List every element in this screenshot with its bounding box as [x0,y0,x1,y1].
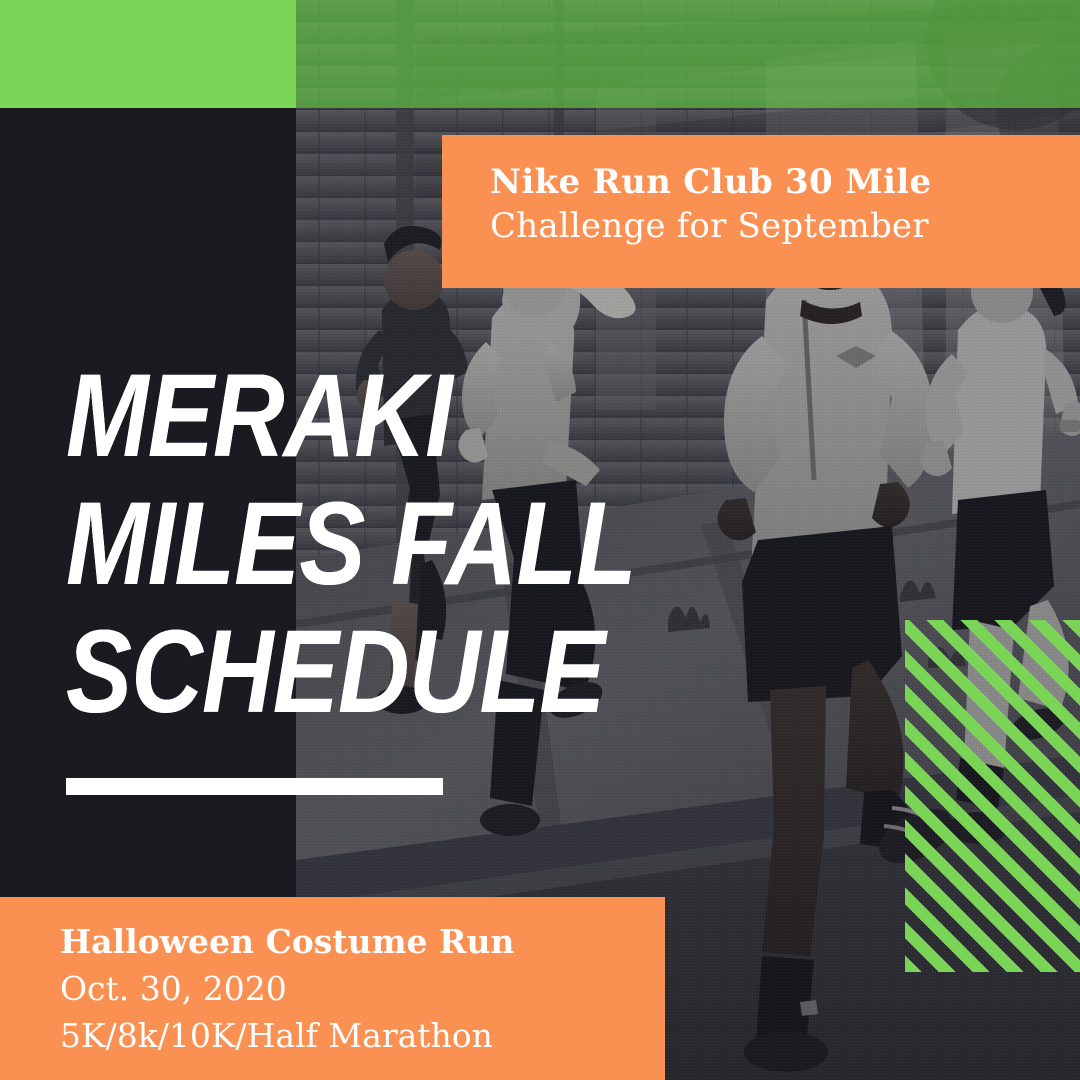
green-duotone-overlay-multiply [296,0,1080,108]
poster-canvas: Nike Run Club 30 Mile Challenge for Sept… [0,0,1080,1080]
race-distances: 5K/8k/10K/Half Marathon [60,1015,665,1058]
headline-line-1: MERAKI [66,352,536,480]
white-divider-rule [66,778,443,795]
race-details-banner: Halloween Costume Run Oct. 30, 2020 5K/8… [0,897,665,1080]
event-challenge-banner: Nike Run Club 30 Mile Challenge for Sept… [442,135,1080,288]
race-date: Oct. 30, 2020 [60,968,665,1011]
headline-line-2: MILES FALL [66,480,536,608]
challenge-subtitle: Challenge for September [490,205,1080,248]
challenge-title: Nike Run Club 30 Mile [490,163,1080,201]
diagonal-stripe-pattern [905,620,1080,972]
page-title: MERAKI MILES FALL SCHEDULE [66,352,626,736]
green-color-block [0,0,296,108]
headline-line-3: SCHEDULE [66,608,536,736]
race-title: Halloween Costume Run [60,923,665,962]
